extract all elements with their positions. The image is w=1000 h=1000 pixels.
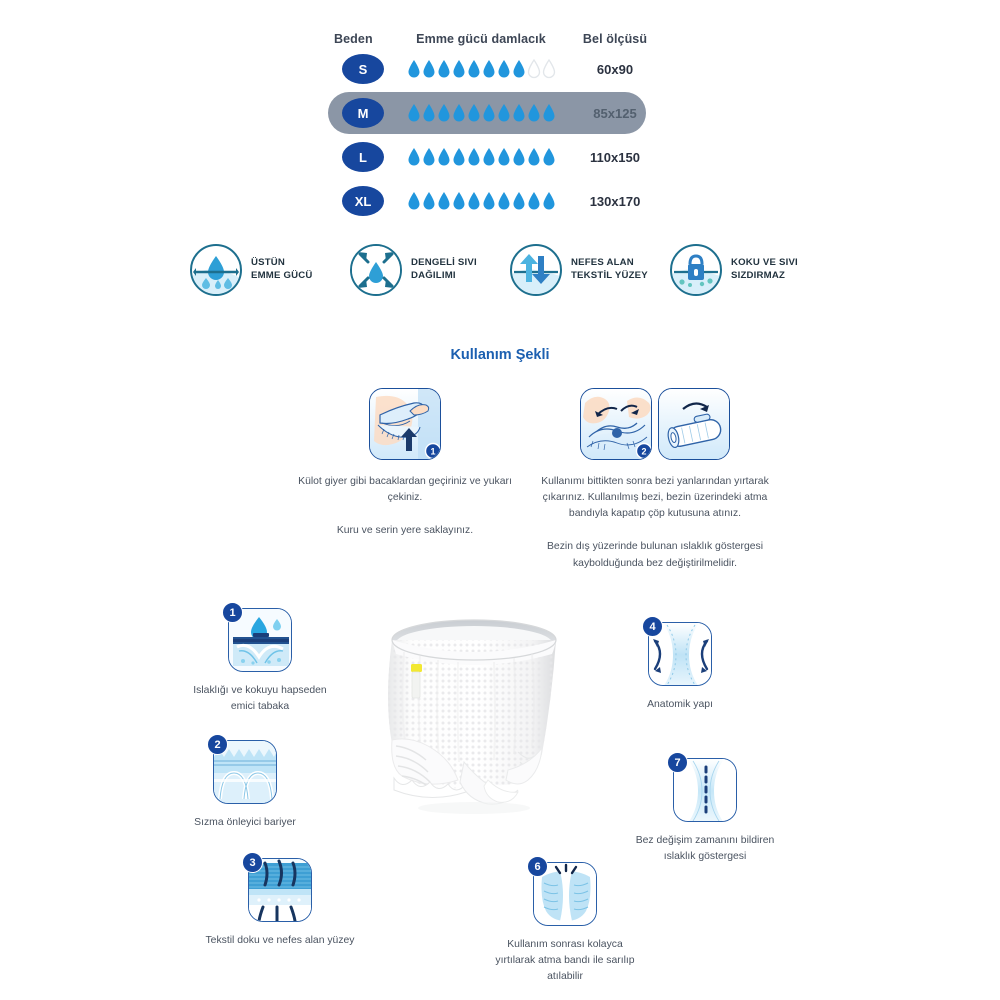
callout-1-icon-wrap: 1 — [228, 608, 292, 672]
waist-measurement: 130x170 — [570, 194, 660, 209]
callout-4: 4 — [605, 622, 755, 713]
drop-filled-icon — [437, 147, 451, 167]
usage-step-2-images: 2 — [530, 388, 780, 460]
drop-filled-icon — [437, 191, 451, 211]
drop-filled-icon — [422, 59, 436, 79]
size-row-l[interactable]: L110x150 — [330, 136, 660, 178]
drop-filled-icon — [527, 147, 541, 167]
usage-step-2: 2 — [530, 388, 780, 572]
feature-label-line1: NEFES ALAN — [571, 257, 648, 270]
lock-leak-proof-icon — [670, 244, 722, 296]
usage-step-1-paragraph: Külot giyer gibi bacaklardan geçiriniz v… — [280, 474, 530, 506]
feature-3: NEFES ALANTEKSTİL YÜZEY — [510, 244, 670, 296]
drop-filled-icon — [482, 191, 496, 211]
absorbency-drops — [392, 147, 570, 167]
feature-label: KOKU VE SIVISIZDIRMAZ — [731, 257, 798, 283]
size-badge: XL — [342, 186, 384, 216]
callout-6-number: 6 — [527, 856, 548, 877]
callout-4-caption: Anatomik yapı — [605, 697, 755, 713]
callout-1: 1 — [185, 608, 335, 715]
drop-filled-icon — [482, 103, 496, 123]
svg-text:2: 2 — [641, 446, 646, 456]
callout-3-icon-wrap: 3 — [248, 858, 312, 922]
drop-empty-icon — [542, 59, 556, 79]
drop-filled-icon — [527, 191, 541, 211]
feature-label-line2: EMME GÜCÜ — [251, 270, 313, 283]
drop-filled-icon — [497, 103, 511, 123]
callout-3: 3 — [205, 858, 355, 949]
drop-filled-icon — [542, 147, 556, 167]
usage-step-1-text: Külot giyer gibi bacaklardan geçiriniz v… — [280, 474, 530, 539]
size-badge: L — [342, 142, 384, 172]
drop-filled-icon — [512, 59, 526, 79]
usage-step-2-paragraph: Bezin dış yüzerinde bulunan ıslaklık gös… — [530, 539, 780, 571]
drop-filled-icon — [467, 191, 481, 211]
droplet-absorb-icon — [190, 244, 242, 296]
callout-2-icon-wrap: 2 — [213, 740, 277, 804]
usage-step-2-paragraph: Kullanımı bittikten sonra bezi yanlarınd… — [530, 474, 780, 522]
usage-step-2-text: Kullanımı bittikten sonra bezi yanlarınd… — [530, 474, 780, 572]
header-absorbency: Emme gücü damlacık — [392, 32, 570, 46]
drop-filled-icon — [497, 59, 511, 79]
feature-label-line2: TEKSTİL YÜZEY — [571, 270, 648, 283]
callout-4-icon-wrap: 4 — [648, 622, 712, 686]
drop-filled-icon — [452, 103, 466, 123]
absorbency-drops — [392, 59, 570, 79]
feature-label-line2: SIZDIRMAZ — [731, 270, 798, 283]
drop-filled-icon — [422, 147, 436, 167]
drop-filled-icon — [422, 191, 436, 211]
size-badge: M — [342, 98, 384, 128]
drop-filled-icon — [497, 147, 511, 167]
callout-2: 2 Sızma önleyici bariyer — [170, 740, 320, 831]
drop-filled-icon — [467, 59, 481, 79]
drop-filled-icon — [467, 103, 481, 123]
size-table: Beden Emme gücü damlacık Bel ölçüsü S60x… — [330, 18, 660, 222]
usage-step-1: 1 Külot giyer gibi bacaklardan geçiriniz… — [280, 388, 530, 539]
drop-filled-icon — [407, 59, 421, 79]
feature-4: KOKU VE SIVISIZDIRMAZ — [670, 244, 830, 296]
feature-2: DENGELİ SIVIDAĞILIMI — [350, 244, 510, 296]
callout-3-caption: Tekstil doku ve nefes alan yüzey — [205, 933, 355, 949]
usage-panel-roll-dispose — [658, 388, 730, 460]
header-size: Beden — [330, 32, 392, 46]
feature-icon-row: ÜSTÜNEMME GÜCÜDENGELİ SIVIDAĞILIMINEFES … — [190, 244, 830, 296]
callout-7: 7 Bez — [630, 758, 780, 865]
usage-section-title: Kullanım Şekli — [0, 347, 1000, 363]
drop-filled-icon — [467, 147, 481, 167]
drop-filled-icon — [482, 147, 496, 167]
usage-step-1-images: 1 — [280, 388, 530, 460]
drop-filled-icon — [422, 103, 436, 123]
drop-filled-icon — [527, 103, 541, 123]
header-waist: Bel ölçüsü — [570, 32, 660, 46]
feature-label-line1: DENGELİ SIVI — [411, 257, 477, 270]
callout-4-number: 4 — [642, 616, 663, 637]
size-badge-wrap: M — [330, 98, 392, 128]
absorbency-drops — [392, 103, 570, 123]
size-row-m[interactable]: M85x125 — [330, 92, 660, 134]
size-table-body: S60x90M85x125L110x150XL130x170 — [330, 48, 660, 222]
size-badge-wrap: L — [330, 142, 392, 172]
usage-step-1-paragraph: Kuru ve serin yere saklayınız. — [280, 523, 530, 539]
size-table-header: Beden Emme gücü damlacık Bel ölçüsü — [330, 18, 660, 46]
size-badge: S — [342, 54, 384, 84]
drop-filled-icon — [452, 59, 466, 79]
drop-filled-icon — [407, 103, 421, 123]
usage-panel-pull-up: 1 — [369, 388, 441, 460]
feature-label-line1: KOKU VE SIVI — [731, 257, 798, 270]
drop-filled-icon — [407, 147, 421, 167]
size-row-xl[interactable]: XL130x170 — [330, 180, 660, 222]
callout-6: 6 Kullanım sonras — [490, 862, 640, 985]
feature-label: ÜSTÜNEMME GÜCÜ — [251, 257, 313, 283]
drop-filled-icon — [482, 59, 496, 79]
callout-6-caption: Kullanım sonrası kolayca yırtılarak atma… — [490, 937, 640, 985]
size-badge-wrap: S — [330, 54, 392, 84]
callout-2-number: 2 — [207, 734, 228, 755]
waist-measurement: 60x90 — [570, 62, 660, 77]
up-down-arrows-icon — [510, 244, 562, 296]
callout-7-number: 7 — [667, 752, 688, 773]
feature-label: DENGELİ SIVIDAĞILIMI — [411, 257, 477, 283]
drop-filled-icon — [512, 191, 526, 211]
callout-1-number: 1 — [222, 602, 243, 623]
adult-pull-up-brief-photo — [368, 612, 580, 822]
callout-2-caption: Sızma önleyici bariyer — [170, 815, 320, 831]
callout-1-caption: Islaklığı ve kokuyu hapseden emici tabak… — [185, 683, 335, 715]
four-arrows-spread-icon — [350, 244, 402, 296]
drop-filled-icon — [452, 191, 466, 211]
waist-measurement: 85x125 — [570, 106, 660, 121]
drop-filled-icon — [437, 103, 451, 123]
callout-7-icon-wrap: 7 — [673, 758, 737, 822]
drop-filled-icon — [542, 103, 556, 123]
svg-text:1: 1 — [430, 446, 435, 456]
callout-3-number: 3 — [242, 852, 263, 873]
drop-filled-icon — [542, 191, 556, 211]
feature-label-line1: ÜSTÜN — [251, 257, 313, 270]
callout-6-icon-wrap: 6 — [533, 862, 597, 926]
feature-1: ÜSTÜNEMME GÜCÜ — [190, 244, 350, 296]
size-row-s[interactable]: S60x90 — [330, 48, 660, 90]
drop-filled-icon — [452, 147, 466, 167]
drop-filled-icon — [437, 59, 451, 79]
usage-panel-tear-sides: 2 — [580, 388, 652, 460]
waist-measurement: 110x150 — [570, 150, 660, 165]
drop-empty-icon — [527, 59, 541, 79]
drop-filled-icon — [512, 103, 526, 123]
drop-filled-icon — [497, 191, 511, 211]
feature-label: NEFES ALANTEKSTİL YÜZEY — [571, 257, 648, 283]
absorbency-drops — [392, 191, 570, 211]
drop-filled-icon — [407, 191, 421, 211]
feature-label-line2: DAĞILIMI — [411, 270, 477, 283]
callout-7-caption: Bez değişim zamanını bildiren ıslaklık g… — [630, 833, 780, 865]
drop-filled-icon — [512, 147, 526, 167]
size-badge-wrap: XL — [330, 186, 392, 216]
product-info-page: Beden Emme gücü damlacık Bel ölçüsü S60x… — [0, 0, 1000, 1000]
